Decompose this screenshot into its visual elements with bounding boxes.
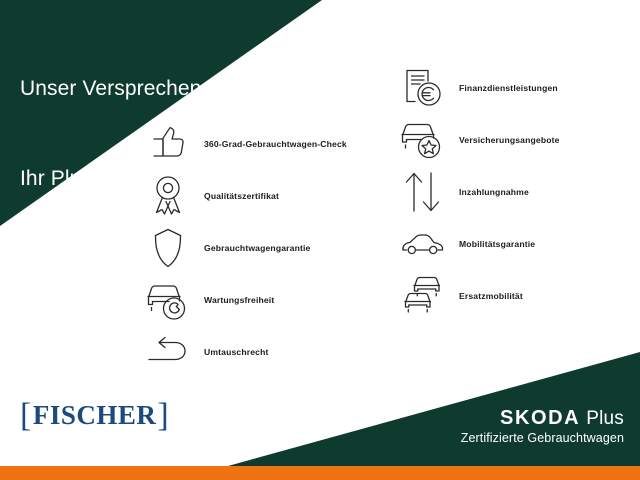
feature-item: Mobilitätsgarantie — [395, 218, 640, 270]
feature-label: Umtauschrecht — [204, 347, 269, 358]
feature-item: Gebrauchtwagengarantie — [140, 222, 390, 274]
return-arrow-icon — [140, 329, 196, 375]
feature-item: Umtauschrecht — [140, 326, 390, 378]
dealer-logo: [ FISCHER ] — [20, 400, 169, 430]
feature-column-left: 360-Grad-Gebrauchtwagen-Check Qualitätsz… — [140, 118, 390, 378]
skoda-brand-name: SKODA — [500, 408, 580, 428]
feature-label: Wartungsfreiheit — [204, 295, 274, 306]
sedan-car-icon — [395, 221, 451, 267]
dealer-logo-bracket-left: [ — [20, 401, 32, 431]
feature-label: Gebrauchtwagengarantie — [204, 243, 310, 254]
feature-label: Inzahlungnahme — [459, 187, 529, 198]
thumbs-up-icon — [140, 121, 196, 167]
feature-item: Ersatzmobilität — [395, 270, 640, 322]
feature-label: Ersatzmobilität — [459, 291, 523, 302]
orange-bar — [0, 466, 640, 480]
feature-label: 360-Grad-Gebrauchtwagen-Check — [204, 139, 347, 150]
shield-icon — [140, 225, 196, 271]
feature-label: Qualitätszertifikat — [204, 191, 279, 202]
feature-label: Versicherungsangebote — [459, 135, 560, 146]
up-down-arrows-icon — [395, 169, 451, 215]
feature-item: Versicherungsangebote — [395, 114, 640, 166]
document-euro-icon — [395, 65, 451, 111]
car-star-icon — [395, 117, 451, 163]
feature-item: Finanzdienstleistungen — [395, 62, 640, 114]
feature-item: Qualitätszertifikat — [140, 170, 390, 222]
feature-column-right: Finanzdienstleistungen Versicherungsange… — [395, 62, 640, 322]
quality-rosette-icon — [140, 173, 196, 219]
feature-item: Inzahlungnahme — [395, 166, 640, 218]
skoda-plus-subtitle: Zertifizierte Gebrauchtwagen — [461, 431, 624, 445]
feature-label: Finanzdienstleistungen — [459, 83, 558, 94]
car-wrench-icon — [140, 277, 196, 323]
headline-line-1: Unser Versprechen. — [20, 74, 207, 104]
two-cars-icon — [395, 273, 451, 319]
skoda-plus-word: Plus — [586, 409, 624, 428]
dealer-logo-bracket-right: ] — [157, 401, 169, 431]
promo-banner: Unser Versprechen. Ihr Plus. 360-Grad-Ge… — [0, 0, 640, 480]
dealer-logo-name: FISCHER — [33, 400, 157, 430]
skoda-plus-logo: SKODA Plus Zertifizierte Gebrauchtwagen — [461, 408, 624, 445]
feature-label: Mobilitätsgarantie — [459, 239, 535, 250]
feature-item: Wartungsfreiheit — [140, 274, 390, 326]
feature-item: 360-Grad-Gebrauchtwagen-Check — [140, 118, 390, 170]
skoda-plus-logo-top: SKODA Plus — [461, 408, 624, 428]
